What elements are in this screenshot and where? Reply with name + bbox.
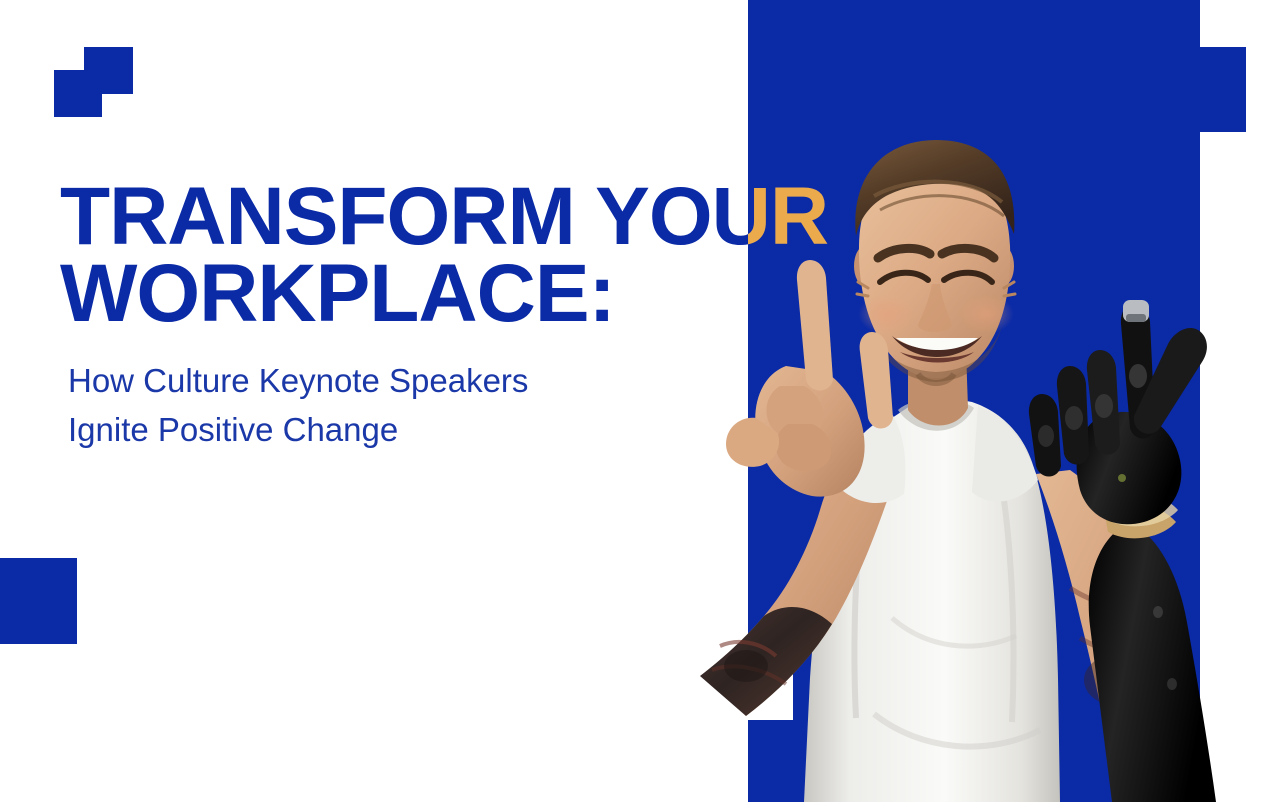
- decor-square-bottom-left: [0, 558, 77, 644]
- photo-prosthetic-forearm: [1089, 522, 1216, 802]
- subtitle-line-1: How Culture Keynote Speakers: [68, 356, 528, 405]
- subtitle-line-2: Ignite Positive Change: [68, 405, 528, 454]
- page-subtitle: How Culture Keynote Speakers Ignite Posi…: [68, 356, 528, 454]
- decor-square-top-left-lower: [54, 70, 102, 117]
- hero-banner: TRANSFORM YOUR WORKPLACE: How Culture Ke…: [0, 0, 1280, 802]
- speaker-photo: [660, 118, 1280, 802]
